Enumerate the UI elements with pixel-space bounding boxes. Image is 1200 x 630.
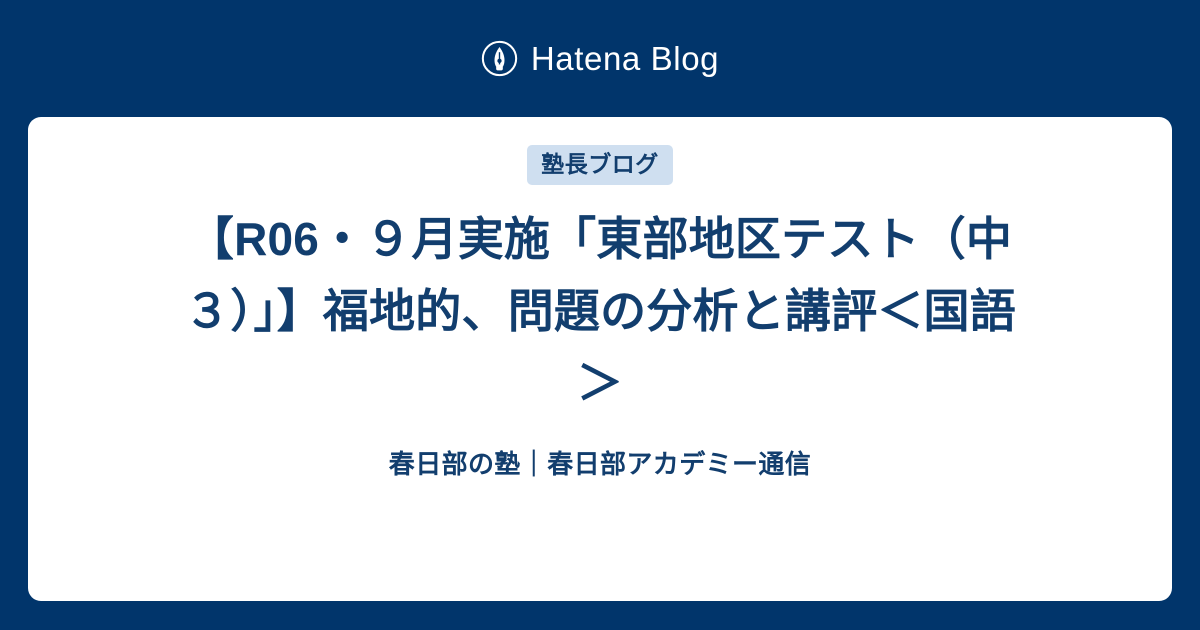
hatena-blog-brand-bar: Hatena Blog [0,0,1200,117]
brand-name-label: Hatena Blog [531,42,719,75]
fountain-pen-nib-icon [481,40,518,77]
blog-name-label: 春日部の塾｜春日部アカデミー通信 [389,449,811,480]
entry-preview-card: 塾長ブログ 【R06・９月実施「東部地区テスト（中３）」】福地的、問題の分析と講… [28,117,1172,601]
og-image-card: Hatena Blog 塾長ブログ 【R06・９月実施「東部地区テスト（中３）」… [0,0,1200,630]
entry-title: 【R06・９月実施「東部地区テスト（中３）」】福地的、問題の分析と講評＜国語＞ [165,203,1035,419]
category-badge[interactable]: 塾長ブログ [527,145,673,185]
